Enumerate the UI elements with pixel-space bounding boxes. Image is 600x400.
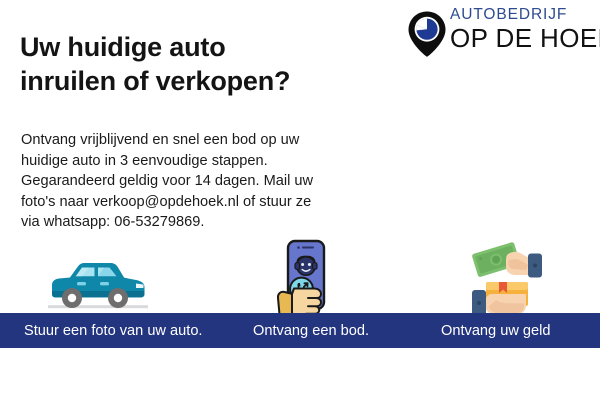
location-pin-icon: [406, 10, 448, 58]
body-line-4-email: foto's naar verkoop@opdehoek.nl of stuur…: [21, 192, 351, 213]
logo-line-op-de-hoek: OP DE HOEK: [450, 24, 600, 52]
page-title: Uw huidige auto inruilen of verkopen?: [20, 30, 380, 98]
steps-caption-bar: Stuur een foto van uw auto. Ontvang een …: [0, 313, 600, 348]
body-line-1: Ontvang vrijblijvend en snel een bod op …: [21, 130, 351, 151]
footer-whitespace: [0, 348, 600, 400]
company-logo: AUTOBEDRIJF OP DE HOEK: [406, 6, 596, 58]
body-line-2: huidige auto in 3 eenvoudige stappen.: [21, 151, 351, 172]
headline-line-1: Uw huidige auto: [20, 30, 380, 64]
advertisement-poster: AUTOBEDRIJF OP DE HOEK Uw huidige auto i…: [0, 0, 600, 400]
body-text: Ontvang vrijblijvend en snel een bod op …: [21, 130, 351, 233]
logo-line-autobedrijf: AUTOBEDRIJF: [450, 6, 600, 23]
step-caption-3: Ontvang uw geld: [441, 313, 551, 348]
body-line-3: Gegarandeerd geldig voor 14 dagen. Mail …: [21, 171, 351, 192]
headline-line-2: inruilen of verkopen?: [20, 64, 380, 98]
car-icon: [48, 251, 148, 313]
logo-wordmark: AUTOBEDRIJF OP DE HOEK: [450, 6, 600, 52]
step-caption-2: Ontvang een bod.: [253, 313, 369, 348]
steps-icon-row: [0, 225, 600, 315]
hand-holding-phone-icon: [272, 238, 340, 323]
step-caption-1: Stuur een foto van uw auto.: [24, 313, 203, 348]
